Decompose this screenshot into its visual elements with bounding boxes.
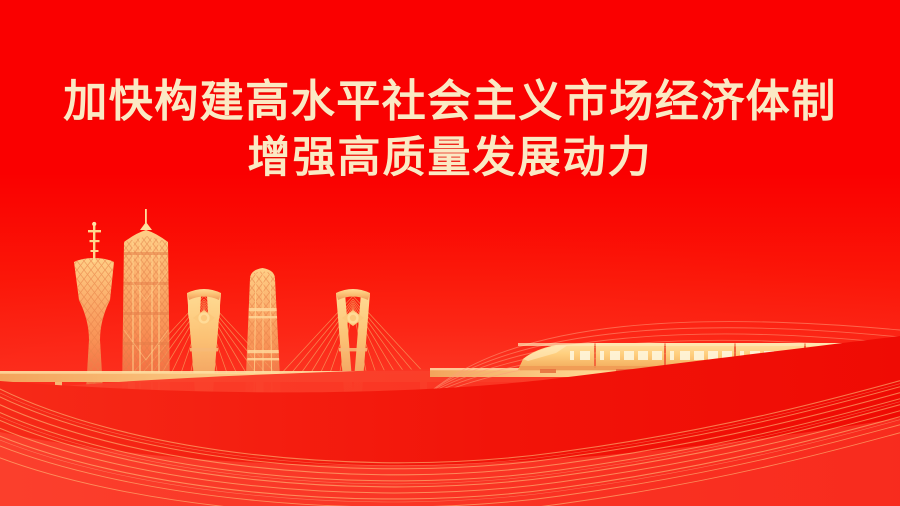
bridge-cables-right <box>279 296 427 376</box>
poster-canvas: 加快构建高水平社会主义市场经济体制 增强高质量发展动力 <box>0 0 900 506</box>
skyline-illustration <box>0 0 900 506</box>
